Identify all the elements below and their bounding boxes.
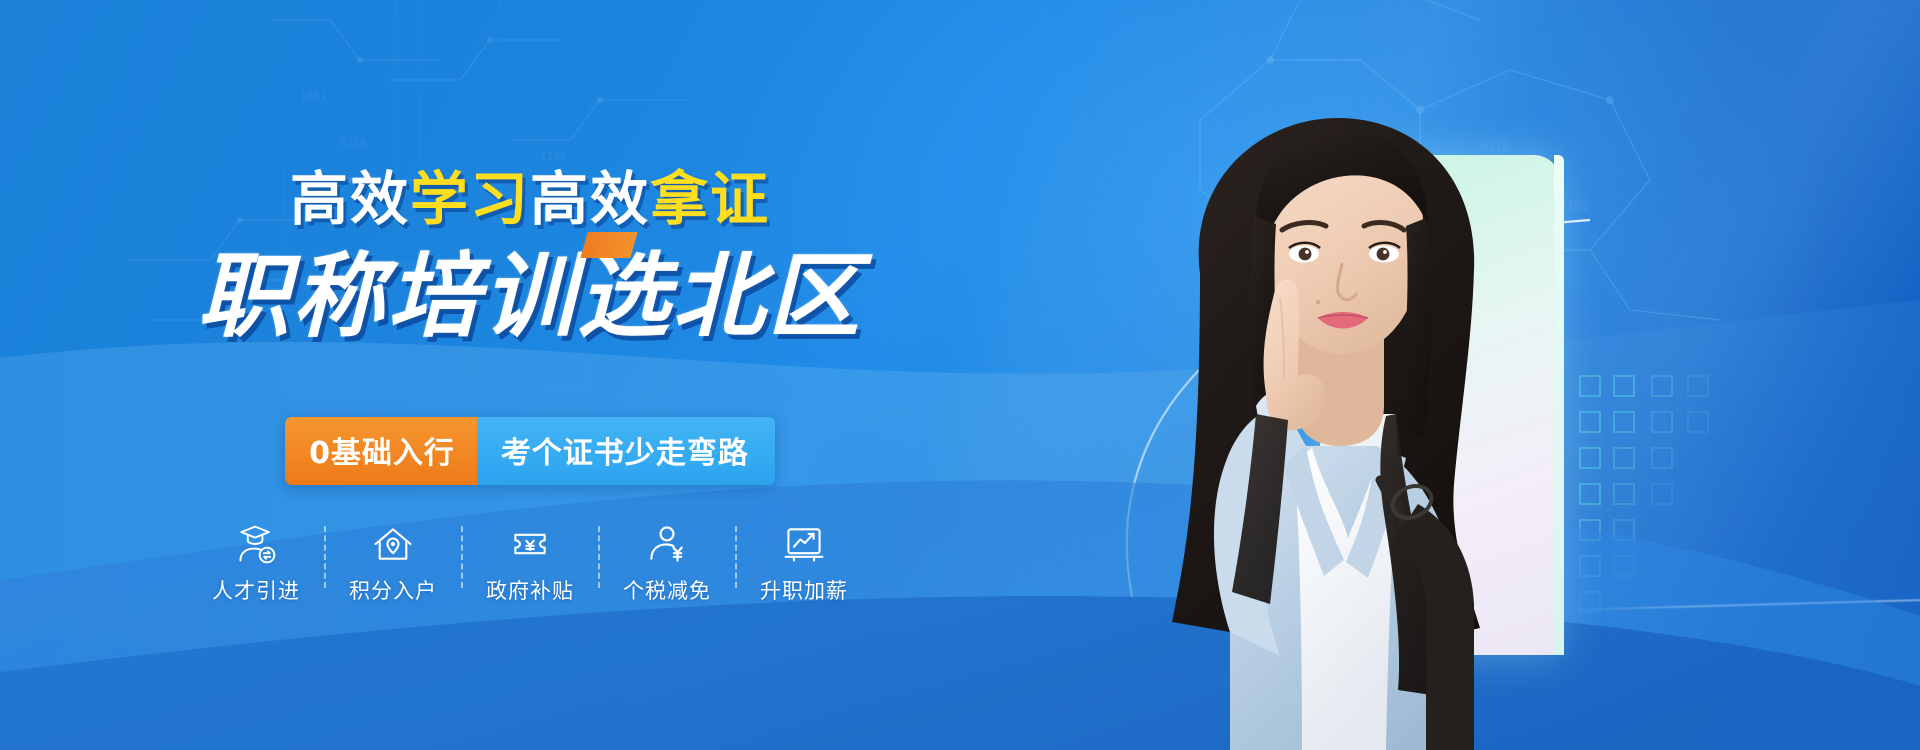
badge-left-label: 0基础入行 (285, 417, 477, 485)
headline-main-wrap: 职称培训选北区 (0, 222, 1060, 355)
feature-item-promotion[interactable]: 升职加薪 (737, 522, 872, 605)
house-pin-icon (371, 522, 415, 566)
ticket-yuan-icon (508, 522, 552, 566)
headline-main: 职称培训选北区 (191, 222, 868, 355)
feature-label-talent: 人才引进 (212, 575, 300, 605)
person-yuan-icon (645, 522, 689, 566)
feature-item-talent[interactable]: 人才引进 (189, 522, 324, 605)
feature-item-tax[interactable]: 个税减免 (600, 522, 735, 605)
model-photo-area (1060, 0, 1620, 750)
badge-right-label: 考个证书少走弯路 (477, 417, 775, 485)
growth-chart-icon (782, 522, 826, 566)
feature-item-subsidy[interactable]: 政府补贴 (463, 522, 598, 605)
model-photo (1080, 84, 1580, 750)
feature-list: 人才引进 积分入户 (0, 522, 1060, 605)
copy-block: 高效学习高效拿证 职称培训选北区 0基础入行 考个证书少走弯路 (0, 0, 1060, 750)
badge-group: 0基础入行 考个证书少走弯路 (285, 417, 775, 485)
feature-label-tax: 个税减免 (623, 575, 711, 605)
promo-banner: 10110110 10010101 1100 01101010 1101 (0, 0, 1920, 750)
badge-row: 0基础入行 考个证书少走弯路 (0, 417, 1060, 485)
orange-accent-chip (581, 232, 638, 258)
feature-label-subsidy: 政府补贴 (486, 575, 574, 605)
feature-label-promotion: 升职加薪 (760, 575, 848, 605)
feature-label-residency: 积分入户 (349, 575, 437, 605)
graduate-person-icon (234, 522, 278, 566)
feature-item-residency[interactable]: 积分入户 (326, 522, 461, 605)
headline-main-text: 职称培训选北区 (197, 243, 862, 350)
